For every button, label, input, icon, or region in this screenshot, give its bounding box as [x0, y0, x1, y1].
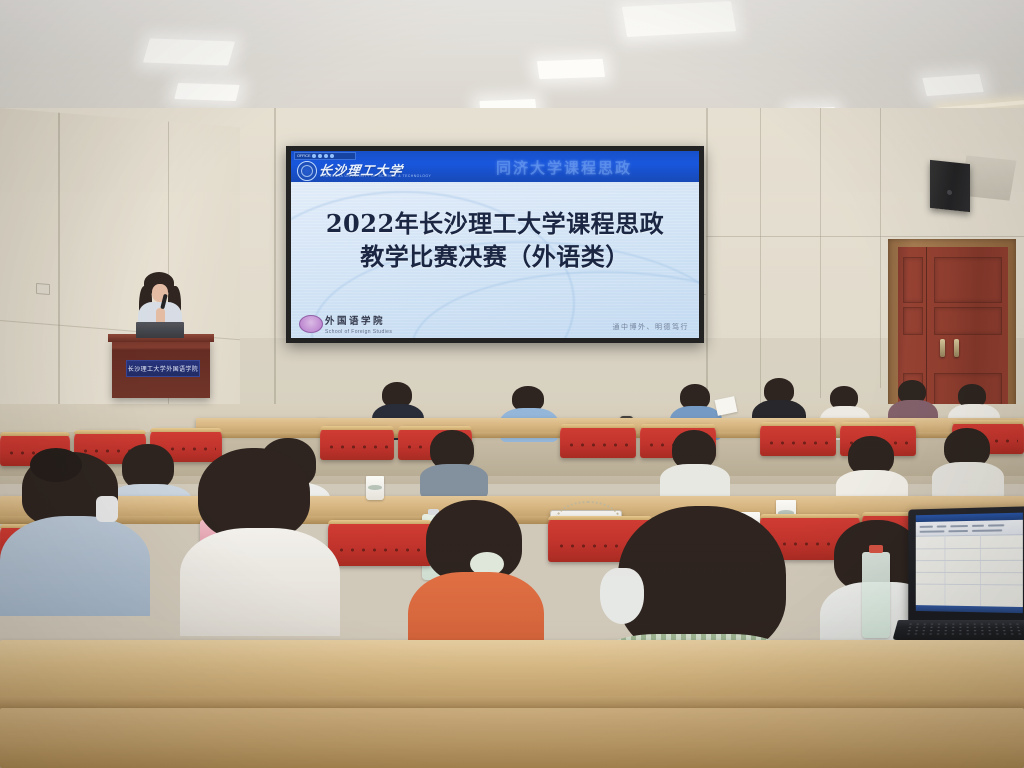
slide-title: 2022年长沙理工大学课程思政 教学比赛决赛（外语类）	[291, 207, 699, 273]
audience-member	[180, 448, 340, 638]
lecture-seat[interactable]	[760, 422, 836, 456]
print-icon[interactable]	[330, 154, 334, 158]
university-name-en: CHANGSHA UNIVERSITY OF SCIENCE & TECHNOL…	[320, 174, 431, 178]
ceiling-light-panel	[922, 74, 983, 96]
college-name-en: School of Foreign Studies	[325, 329, 392, 335]
college-slogan: 通中博外、明德笃行	[613, 322, 690, 332]
slide-title-line-1: 2022年长沙理工大学课程思政	[291, 207, 699, 240]
open-laptop[interactable]	[898, 508, 1024, 658]
audience-member	[660, 430, 730, 500]
lecture-seat[interactable]	[560, 424, 636, 458]
slide-header-band: 同济大学课程思政 OFFICE 长沙理工大学 CHANGSHA UNIVERSI…	[291, 151, 699, 182]
toolbar-label: OFFICE	[297, 154, 310, 158]
water-bottle	[862, 552, 890, 638]
audience-member	[420, 430, 488, 496]
lecture-desk-foreground	[0, 640, 1024, 700]
audience-member	[932, 428, 1004, 498]
slide-title-line-2: 教学比赛决赛（外语类）	[291, 240, 699, 273]
save-icon[interactable]	[312, 154, 316, 158]
university-seal-icon	[297, 161, 317, 181]
lecture-desk-foreground-lower	[0, 708, 1024, 768]
college-name: 外国语学院	[325, 313, 385, 327]
presentation-toolbar-overlay[interactable]: OFFICE	[294, 152, 356, 160]
projection-screen: 同济大学课程思政 OFFICE 长沙理工大学 CHANGSHA UNIVERSI…	[286, 146, 704, 343]
app-statusbar	[916, 605, 1023, 613]
slide-canvas: 同济大学课程思政 OFFICE 长沙理工大学 CHANGSHA UNIVERSI…	[291, 151, 699, 338]
slide-footer-band: 外国语学院 School of Foreign Studies 通中博外、明德笃…	[291, 308, 699, 338]
app-ribbon[interactable]	[916, 520, 1023, 537]
door-handle-icon[interactable]	[940, 339, 945, 357]
undo-icon[interactable]	[318, 154, 322, 158]
ceiling-light-panel	[143, 38, 235, 65]
slide-banner-ghost-text: 同济大学课程思政	[496, 157, 632, 178]
laptop-screen[interactable]	[916, 513, 1023, 614]
college-seal-icon	[299, 315, 323, 333]
door-handle-icon[interactable]	[954, 339, 959, 357]
wall-outlet-icon	[36, 283, 50, 295]
paper-coffee-cup	[366, 476, 384, 500]
ceiling-light-panel	[622, 1, 736, 37]
ceiling-light-panel	[174, 83, 239, 101]
face-mask	[96, 496, 118, 522]
laptop-icon	[136, 322, 184, 338]
document-paper	[715, 396, 738, 416]
face-mask	[600, 568, 644, 624]
photo-scene: 同济大学课程思政 OFFICE 长沙理工大学 CHANGSHA UNIVERSI…	[0, 0, 1024, 768]
audience-member	[0, 452, 150, 632]
ceiling-speaker	[930, 160, 970, 212]
laptop-lid	[908, 506, 1024, 627]
redo-icon[interactable]	[324, 154, 328, 158]
ceiling-light-panel	[537, 59, 605, 79]
